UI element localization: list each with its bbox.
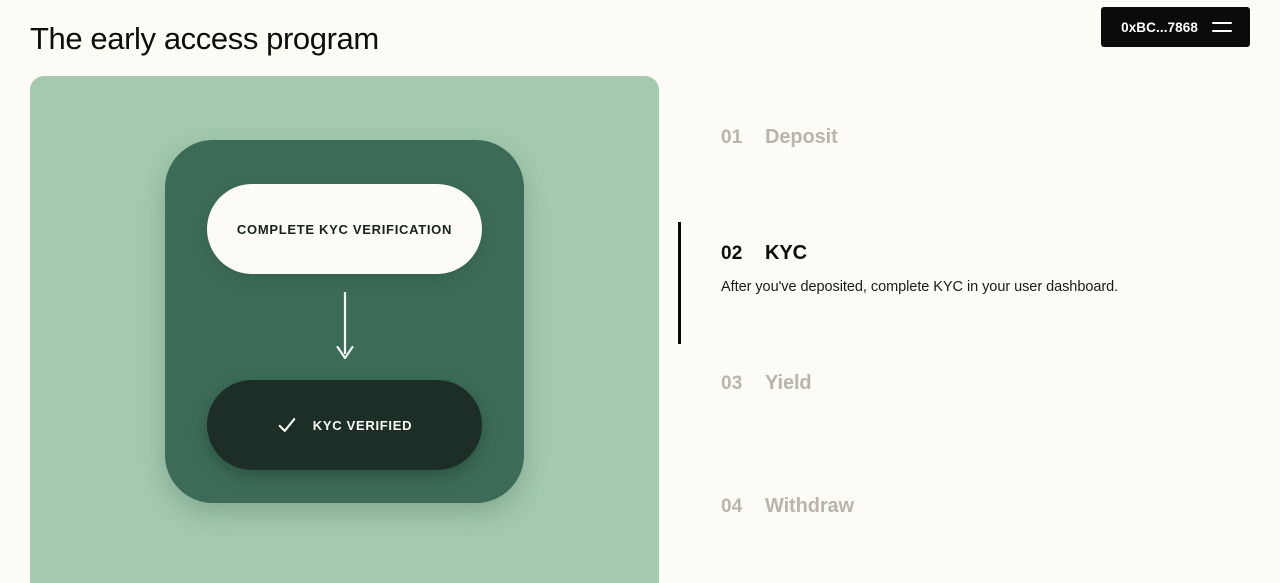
step-header: 02 KYC (721, 242, 1218, 265)
step-header: 01 Deposit (721, 126, 1218, 149)
step-header: 04 Withdraw (721, 495, 1218, 518)
step-label: Withdraw (765, 495, 854, 518)
step-number: 02 (721, 243, 765, 265)
step-description: After you've deposited, complete KYC in … (721, 277, 1218, 297)
hamburger-line-top (1212, 22, 1232, 24)
kyc-verified-pill: KYC VERIFIED (207, 380, 482, 470)
step-item-yield[interactable]: 03 Yield (678, 358, 1218, 481)
wallet-address-label: 0xBC...7868 (1121, 20, 1198, 35)
step-header: 03 Yield (721, 372, 1218, 395)
step-label: Deposit (765, 126, 838, 149)
check-icon (277, 415, 297, 435)
hamburger-line-bottom (1212, 30, 1232, 32)
wallet-badge[interactable]: 0xBC...7868 (1101, 7, 1250, 47)
complete-kyc-verification-pill[interactable]: COMPLETE KYC VERIFICATION (207, 184, 482, 274)
illustration-panel: COMPLETE KYC VERIFICATION KYC VERIFIED (30, 76, 659, 583)
step-item-withdraw[interactable]: 04 Withdraw (678, 481, 1218, 541)
step-label: KYC (765, 242, 807, 265)
step-label: Yield (765, 372, 812, 395)
hamburger-icon[interactable] (1212, 21, 1232, 33)
page-title: The early access program (30, 20, 379, 58)
kyc-verified-label: KYC VERIFIED (313, 418, 412, 433)
step-item-kyc[interactable]: 02 KYC After you've deposited, complete … (678, 218, 1218, 358)
arrow-down-icon (334, 292, 356, 362)
step-number: 04 (721, 496, 765, 518)
step-item-deposit[interactable]: 01 Deposit (678, 112, 1218, 218)
program-steps-list: 01 Deposit 02 KYC After you've deposited… (678, 112, 1218, 541)
active-step-indicator (678, 222, 681, 344)
step-number: 01 (721, 127, 765, 149)
step-number: 03 (721, 373, 765, 395)
kyc-flow-card: COMPLETE KYC VERIFICATION KYC VERIFIED (165, 140, 524, 503)
complete-kyc-verification-label: COMPLETE KYC VERIFICATION (237, 222, 452, 237)
